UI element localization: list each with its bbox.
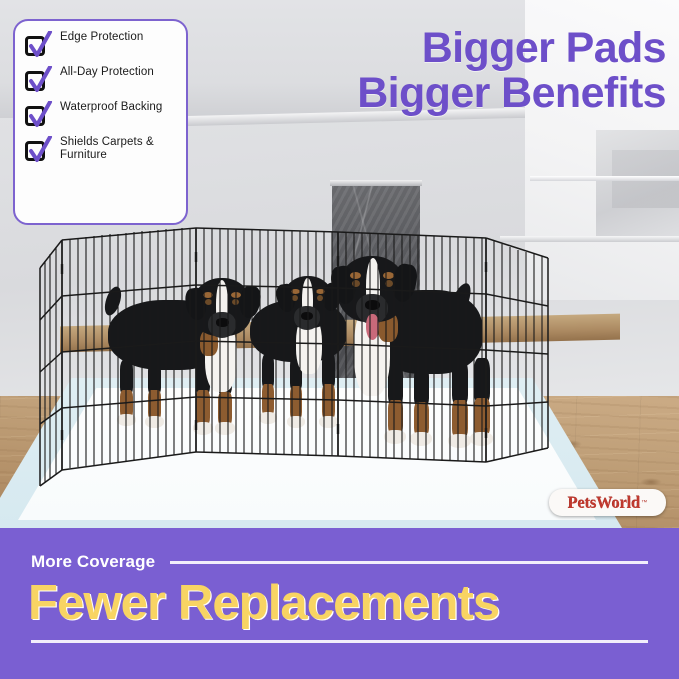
- stone-column-cap: [330, 180, 422, 186]
- banner-divider-top: [170, 561, 648, 564]
- feature-item: Edge Protection: [25, 30, 178, 59]
- brand-logo: PetsWorld™: [549, 489, 666, 516]
- checkbox-checked-icon: [25, 103, 51, 129]
- checkbox-checked-icon: [25, 138, 51, 164]
- checkbox-checked-icon: [25, 68, 51, 94]
- product-infographic: PetsWorld™ Bigger Pads Bigger Benefits E…: [0, 0, 679, 679]
- puppy-pad-surface: [6, 388, 608, 520]
- checkbox-checked-icon: [25, 33, 51, 59]
- feature-item: Waterproof Backing: [25, 100, 178, 129]
- headline-line-1: Bigger Pads: [246, 26, 666, 71]
- banner-headline: Fewer Replacements: [28, 575, 656, 631]
- feature-label: All-Day Protection: [60, 65, 154, 79]
- feature-list-card: Edge Protection All-Day Protection Water…: [13, 19, 188, 225]
- feature-label: Edge Protection: [60, 30, 143, 44]
- wood-knot: [640, 478, 662, 486]
- bottom-banner: More Coverage Fewer Replacements: [0, 528, 679, 679]
- feature-item: Shields Carpets & Furniture: [25, 135, 178, 164]
- banner-kicker: More Coverage: [31, 552, 155, 572]
- trademark-symbol: ™: [641, 500, 647, 506]
- feature-item: All-Day Protection: [25, 65, 178, 94]
- headline-line-2: Bigger Benefits: [246, 71, 666, 116]
- brand-logo-text: PetsWorld: [568, 493, 640, 513]
- shelf-edge: [530, 176, 679, 181]
- feature-label: Shields Carpets & Furniture: [60, 135, 178, 162]
- shelf-edge-lower: [500, 236, 679, 242]
- feature-label: Waterproof Backing: [60, 100, 162, 114]
- headline: Bigger Pads Bigger Benefits: [246, 26, 666, 116]
- banner-divider-bottom: [31, 640, 648, 643]
- banner-kicker-row: More Coverage: [31, 552, 648, 572]
